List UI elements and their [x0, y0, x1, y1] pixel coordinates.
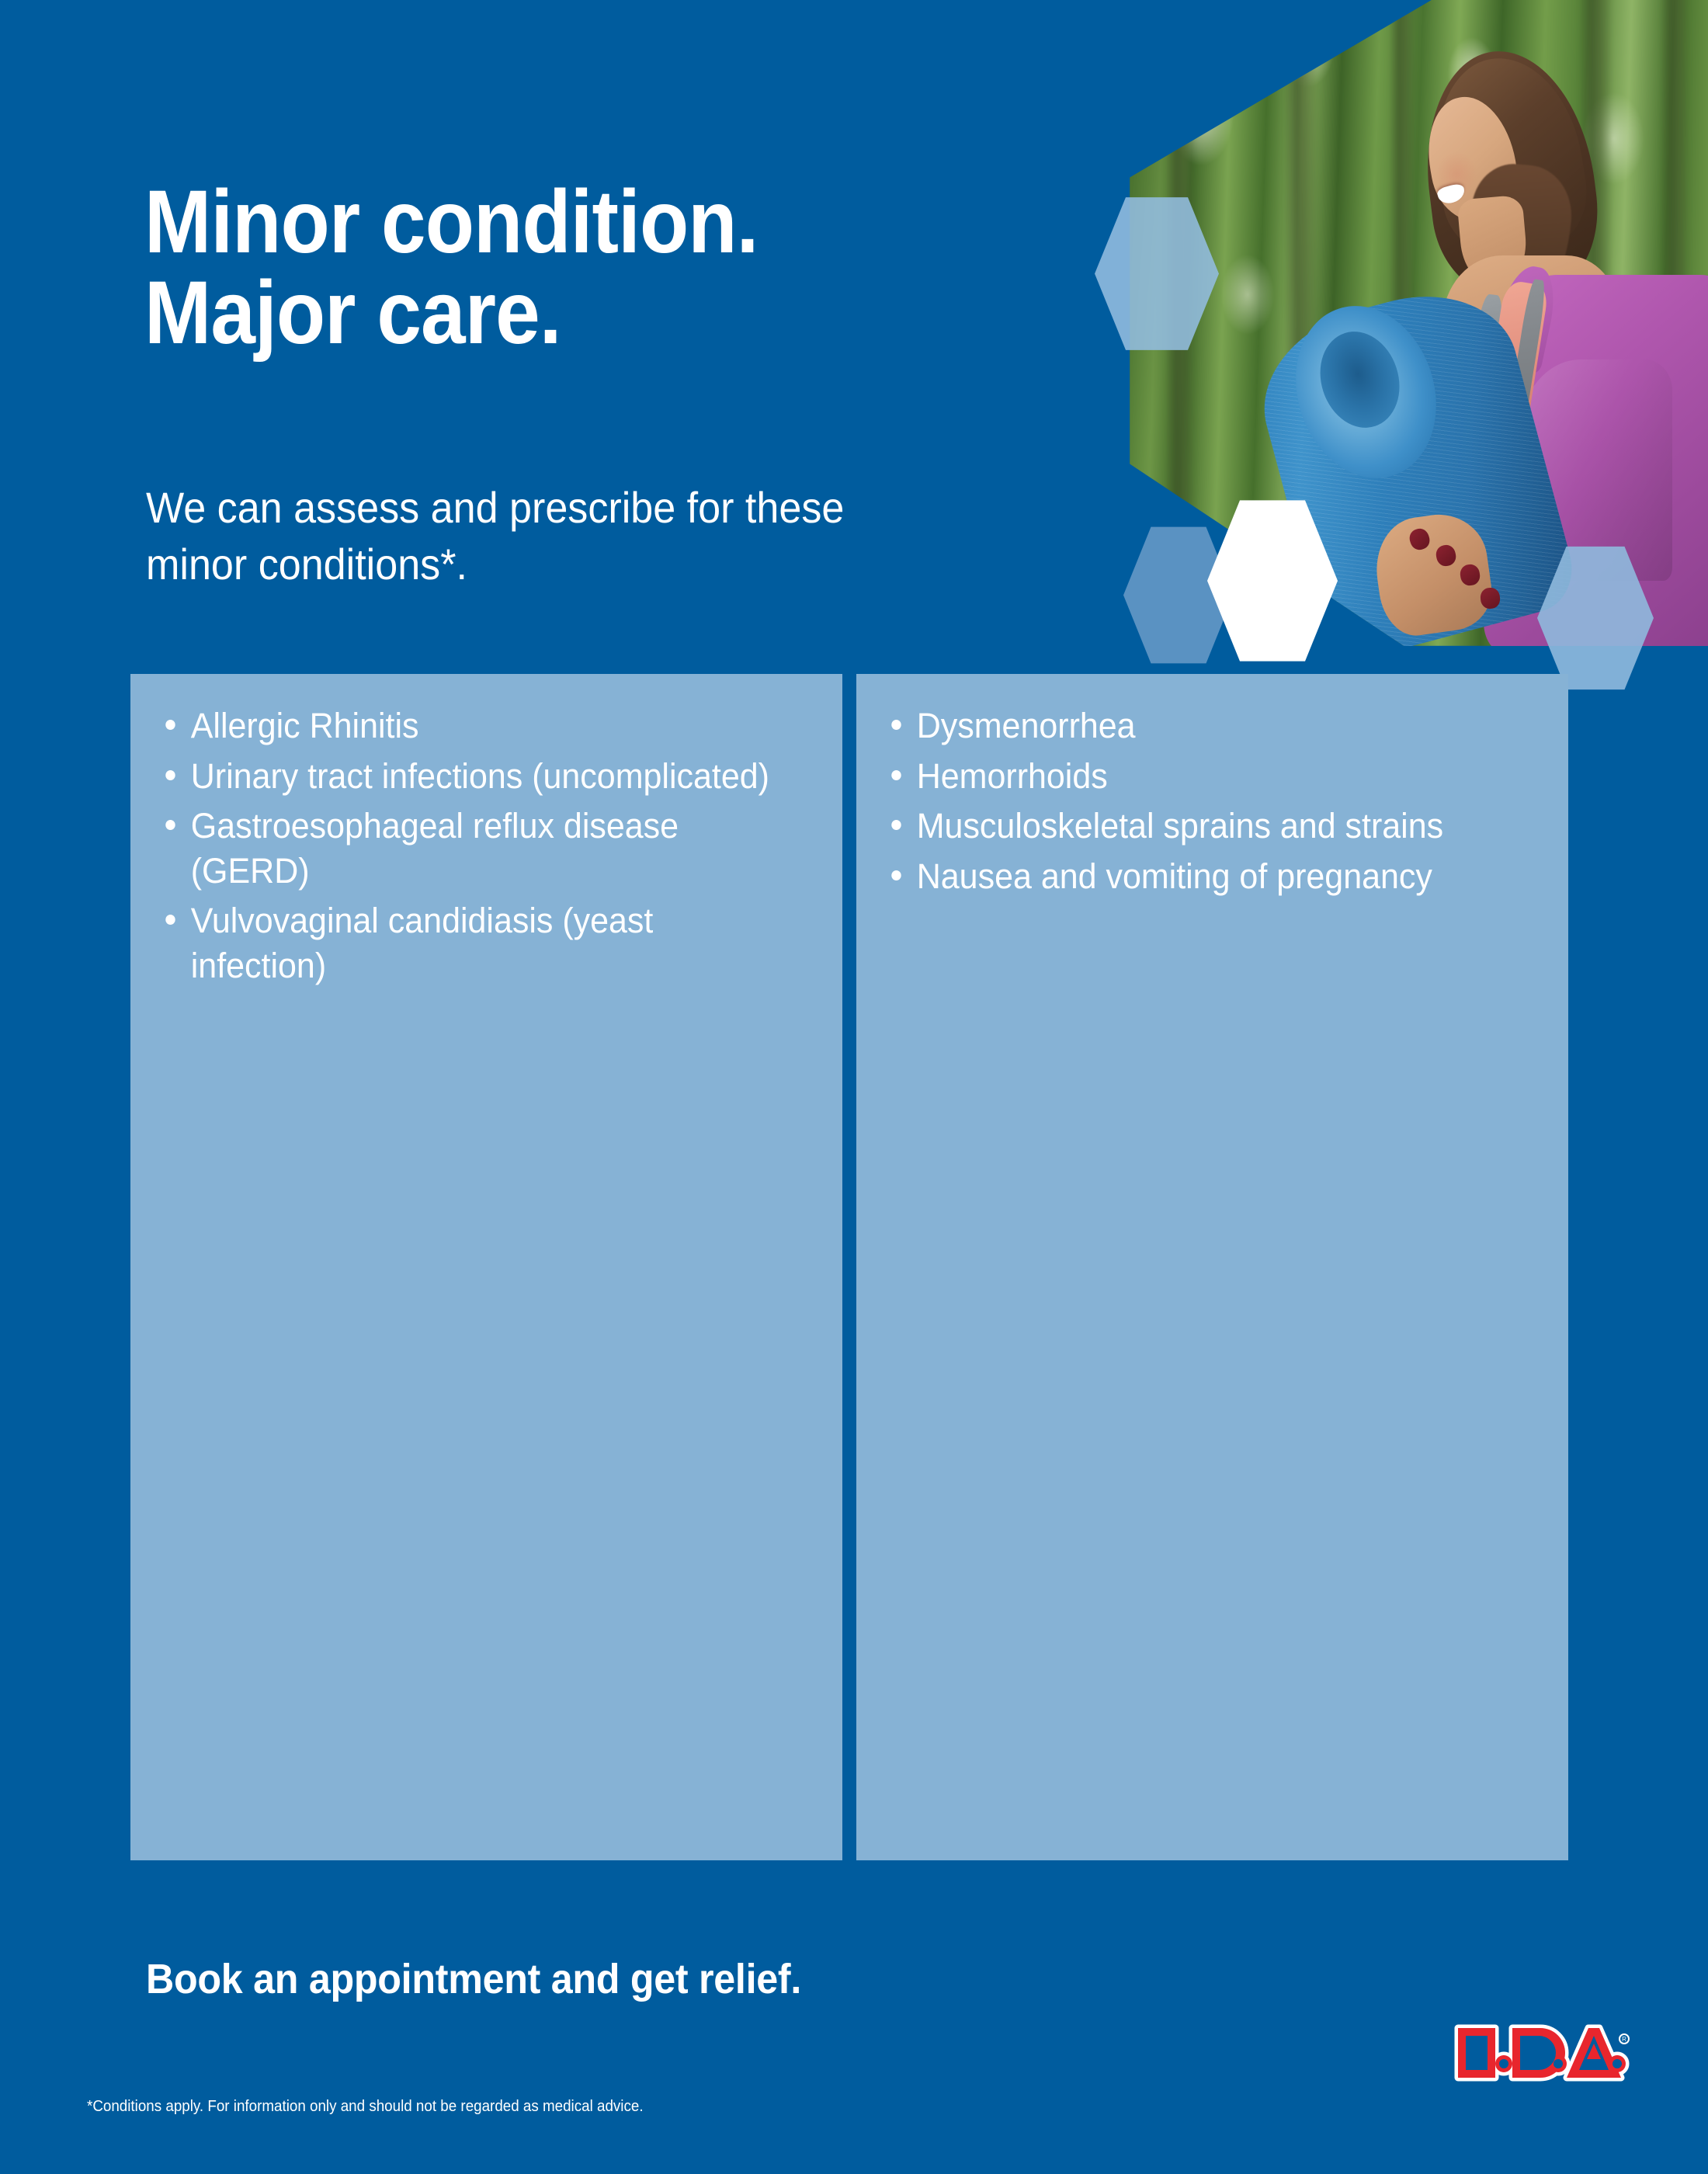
page-title: Minor condition. Major care. — [144, 177, 969, 359]
headline-line-2: Major care. — [144, 268, 969, 359]
conditions-list-right: Dysmenorrhea Hemorrhoids Musculoskeletal… — [880, 703, 1545, 898]
list-item: Musculoskeletal sprains and strains — [880, 804, 1515, 849]
conditions-list-left: Allergic Rhinitis Urinary tract infectio… — [154, 703, 819, 988]
ida-logo: R — [1447, 2016, 1633, 2090]
conditions-panel-left: Allergic Rhinitis Urinary tract infectio… — [130, 674, 842, 1860]
list-item: Nausea and vomiting of pregnancy — [880, 854, 1515, 899]
disclaimer-text: *Conditions apply. For information only … — [87, 2098, 644, 2116]
list-item: Hemorrhoids — [880, 754, 1515, 799]
list-item: Gastroesophageal reflux disease (GERD) — [154, 804, 789, 893]
subhead-line-2: minor conditions*. — [146, 537, 984, 593]
subhead-line-1: We can assess and prescribe for these — [146, 480, 984, 537]
list-item: Dysmenorrhea — [880, 703, 1515, 748]
cta-text: Book an appointment and get relief. — [146, 1955, 801, 2003]
list-item: Urinary tract infections (uncomplicated) — [154, 754, 789, 799]
conditions-panel-right: Dysmenorrhea Hemorrhoids Musculoskeletal… — [856, 674, 1568, 1860]
trademark-symbol: R — [1622, 2036, 1626, 2043]
ida-logo-icon: R — [1447, 2016, 1633, 2090]
headline-line-1: Minor condition. — [144, 177, 969, 268]
poster-canvas: Minor condition. Major care. We can asse… — [0, 0, 1708, 2174]
list-item: Allergic Rhinitis — [154, 703, 789, 748]
list-item: Vulvovaginal candidiasis (yeast infectio… — [154, 898, 789, 988]
conditions-panels: Allergic Rhinitis Urinary tract infectio… — [130, 674, 1568, 1860]
page-subtitle: We can assess and prescribe for these mi… — [146, 480, 984, 593]
